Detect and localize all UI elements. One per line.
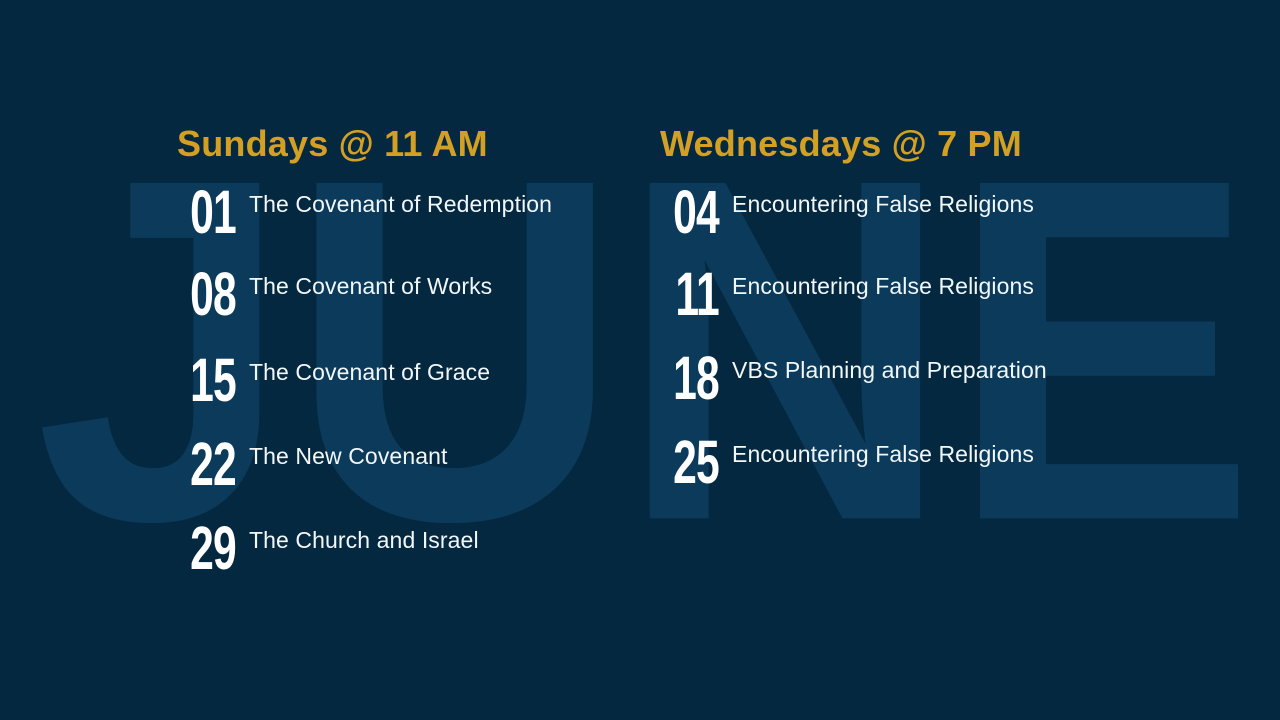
event-title: Encountering False Religions [732,430,1130,470]
event-title: The Covenant of Redemption [249,180,647,220]
event-date: 25 [673,430,732,496]
column-title-wednesdays: Wednesdays @ 7 PM [660,122,1130,166]
event-row: 29 The Church and Israel [177,516,647,584]
event-row: 18 VBS Planning and Preparation [660,346,1130,414]
event-title: Encountering False Religions [732,180,1130,220]
event-title: The Covenant of Works [249,262,647,302]
event-list-sundays: 01 The Covenant of Redemption 08 The Cov… [177,180,647,584]
event-row: 11 Encountering False Religions [660,262,1130,330]
column-title-sundays: Sundays @ 11 AM [177,122,647,166]
event-row: 15 The Covenant of Grace [177,348,647,416]
event-row: 01 The Covenant of Redemption [177,180,647,248]
event-title: The Church and Israel [249,516,647,556]
event-date: 04 [673,180,732,246]
event-row: 25 Encountering False Religions [660,430,1130,498]
event-date: 15 [190,348,249,414]
event-row: 04 Encountering False Religions [660,180,1130,248]
schedule-container: Sundays @ 11 AM 01 The Covenant of Redem… [0,0,1280,720]
schedule-column-sundays: Sundays @ 11 AM 01 The Covenant of Redem… [177,122,647,584]
slide-root: { "theme": { "background_color": "#04283… [0,0,1280,720]
event-title: Encountering False Religions [732,262,1130,302]
schedule-column-wednesdays: Wednesdays @ 7 PM 04 Encountering False … [660,122,1130,498]
event-title: VBS Planning and Preparation [732,346,1130,386]
event-date: 08 [190,262,249,328]
event-date: 22 [190,432,249,498]
event-list-wednesdays: 04 Encountering False Religions 11 Encou… [660,180,1130,498]
event-row: 22 The New Covenant [177,432,647,500]
event-date: 01 [190,180,249,246]
event-row: 08 The Covenant of Works [177,262,647,330]
event-date: 11 [673,262,732,328]
event-date: 29 [190,516,249,582]
event-title: The Covenant of Grace [249,348,647,388]
event-title: The New Covenant [249,432,647,472]
event-date: 18 [673,346,732,412]
